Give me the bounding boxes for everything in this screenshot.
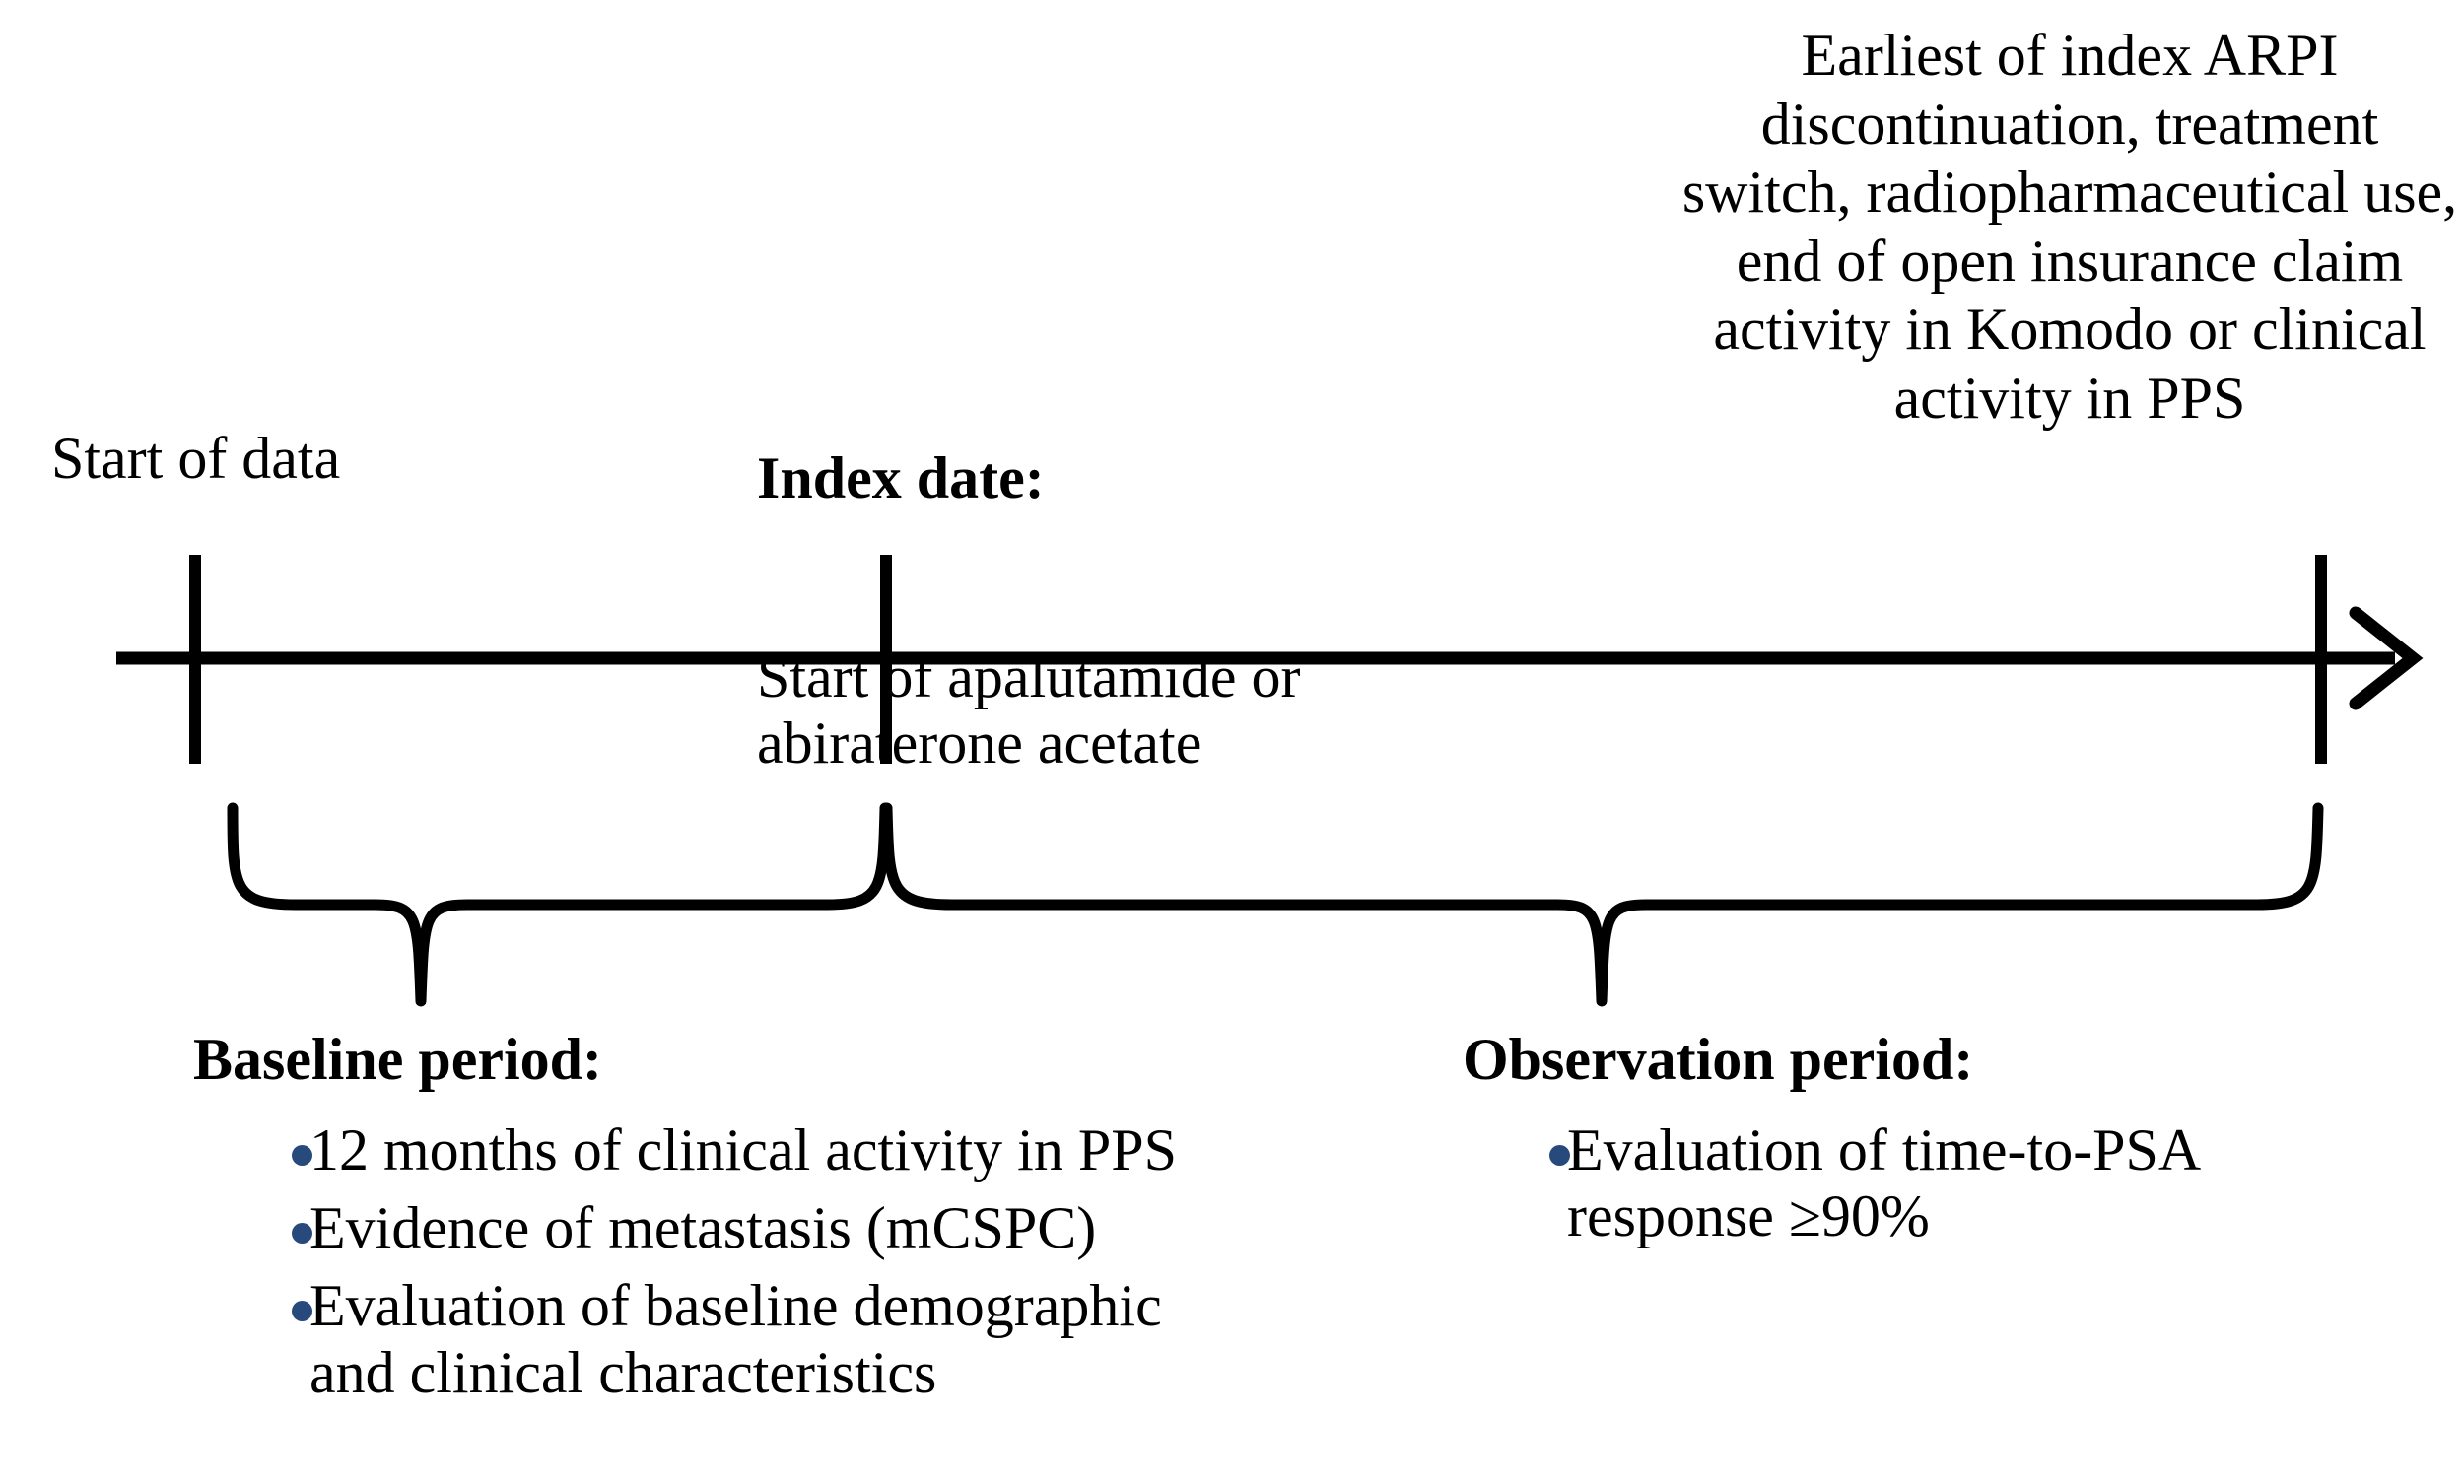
observation-period-title: Observation period:	[1463, 1027, 2291, 1092]
list-item-label: 12 months of clinical activity in PPS	[309, 1117, 1177, 1182]
list-item: 12 months of clinical activity in PPS	[193, 1117, 1248, 1183]
observation-period-bullet-list: Evaluation of time-to-PSA response ≥90%	[1463, 1117, 2291, 1249]
label-start-of-data: Start of data	[51, 426, 340, 492]
baseline-period-block: Baseline period: 12 months of clinical a…	[193, 1027, 1248, 1418]
list-item: Evaluation of baseline demographic and c…	[193, 1273, 1248, 1405]
list-item: Evidence of metastasis (mCSPC)	[193, 1195, 1248, 1261]
baseline-period-bullet-list: 12 months of clinical activity in PPS Ev…	[193, 1117, 1248, 1406]
list-item-label: Evaluation of baseline demographic and c…	[309, 1273, 1162, 1404]
index-date-description: Start of apalutamide or abiraterone acet…	[757, 644, 1388, 776]
label-end-of-follow-up: Earliest of index ARPI discontinuation, …	[1676, 22, 2464, 434]
index-date-heading: Index date:	[757, 445, 1388, 511]
observation-period-block: Observation period: Evaluation of time-t…	[1463, 1027, 2291, 1261]
list-item-label: Evaluation of time-to-PSA response ≥90%	[1567, 1117, 2198, 1248]
list-item: Evaluation of time-to-PSA response ≥90%	[1463, 1117, 2291, 1249]
bullet-dot-icon	[292, 1145, 312, 1166]
baseline-period-title: Baseline period:	[193, 1027, 1248, 1092]
figure-canvas: Start of data Index date: Start of apalu…	[0, 0, 2464, 1484]
list-item-label: Evidence of metastasis (mCSPC)	[309, 1195, 1096, 1260]
bullet-dot-icon	[1549, 1145, 1570, 1166]
label-index-date: Index date: Start of apalutamide or abir…	[757, 313, 1388, 910]
